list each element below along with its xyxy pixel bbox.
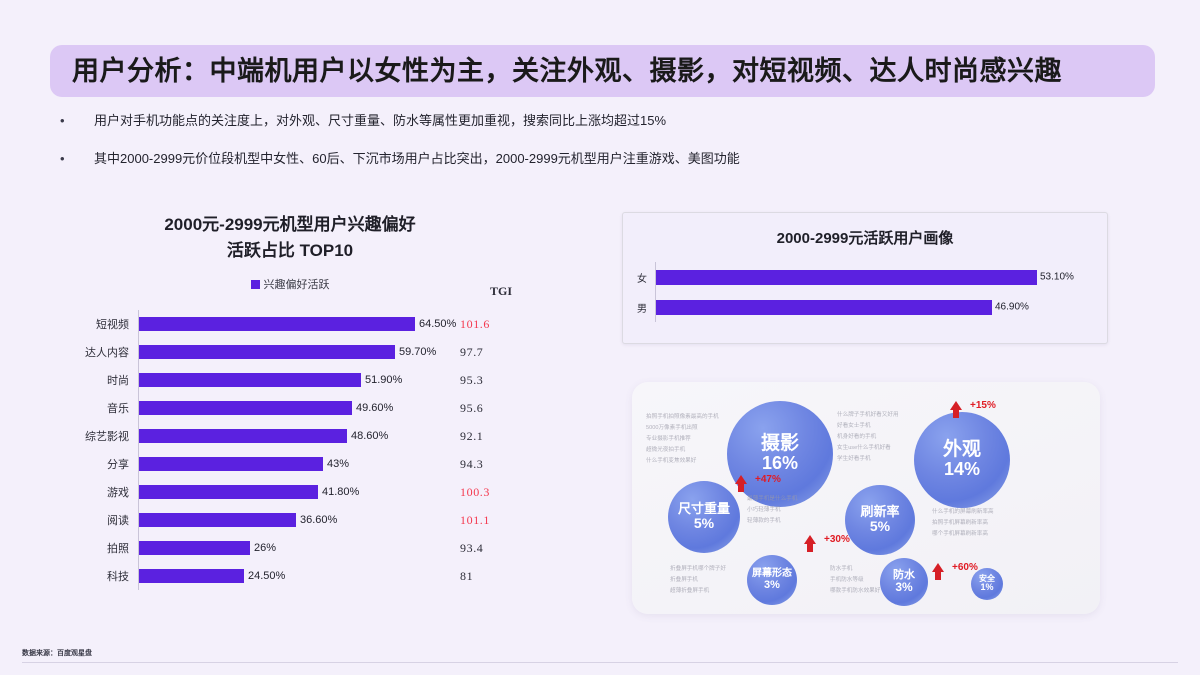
bubble-label: 外观 (943, 440, 981, 460)
keyword-label: 轻薄款的手机 (747, 516, 781, 527)
bubble-刷新率[interactable]: 刷新率5% (845, 485, 915, 555)
arrow-up-icon (950, 401, 962, 410)
table-row: 时尚51.90%95.3 (60, 366, 580, 394)
keyword-label: 女生use什么手机好看 (837, 443, 891, 454)
keyword-label: 拍照手机拍照像素最高的手机 (646, 412, 719, 423)
bubble-percent: 5% (694, 516, 714, 531)
bubble-percent: 1% (980, 583, 993, 593)
bar-value-label: 36.60% (300, 514, 337, 526)
keyword-label: 超微光夜拍手机 (646, 445, 685, 456)
bar-category-label: 男 (623, 300, 655, 315)
table-row: 男46.90% (623, 292, 1107, 322)
bar-track: 51.90% (138, 366, 438, 394)
bar-track: 49.60% (138, 394, 438, 422)
tgi-value: 97.7 (438, 345, 508, 360)
chart-title-line2: 活跃占比 TOP10 (90, 238, 490, 264)
bar-track: 43% (138, 450, 438, 478)
keyword-label: 超薄折叠屏手机 (670, 586, 709, 597)
table-row: 女53.10% (623, 262, 1107, 292)
bullet-list: • 用户对手机功能点的关注度上，对外观、尺寸重量、防水等属性更加重视，搜索同比上… (60, 112, 920, 188)
bar-fill (139, 457, 323, 471)
growth-indicator: +47% (735, 474, 781, 485)
legend-label: 兴趣偏好活跃 (264, 276, 330, 292)
tgi-value: 92.1 (438, 429, 508, 444)
bar-track: 26% (138, 534, 438, 562)
bar-value-label: 26% (254, 542, 276, 554)
keyword-label: 什么手机的屏幕刷新率高 (932, 507, 994, 518)
keyword-label: 学生好看手机 (837, 454, 871, 465)
bar-value-label: 41.80% (322, 486, 359, 498)
bar-value-label: 46.90% (995, 302, 1029, 313)
bar-fill (139, 485, 318, 499)
bubble-label: 屏幕形态 (752, 569, 792, 580)
growth-indicator: +60% (932, 562, 978, 573)
chart-plot-area: 短视频64.50%101.6达人内容59.70%97.7时尚51.90%95.3… (60, 310, 580, 590)
tgi-value: 101.1 (438, 513, 508, 528)
keyword-label: 哪款手机防水效果好 (830, 586, 880, 597)
legend-swatch-icon (251, 280, 260, 289)
keyword-label: 最薄手机是什么手机 (747, 494, 797, 505)
bar-fill (139, 429, 347, 443)
bar-track: 36.60% (138, 506, 438, 534)
table-row: 拍照26%93.4 (60, 534, 580, 562)
bar-value-label: 48.60% (351, 430, 388, 442)
bullet-marker-icon: • (60, 112, 72, 130)
chart-plot-area: 女53.10%男46.90% (623, 262, 1107, 322)
keyword-label: 防水手机 (830, 564, 852, 575)
growth-value: +30% (824, 534, 850, 545)
bar-category-label: 分享 (60, 456, 138, 472)
bubble-防水[interactable]: 防水3% (880, 558, 928, 606)
page-title: 用户分析：中端机用户以女性为主，关注外观、摄影，对短视频、达人时尚感兴趣 (72, 50, 1152, 92)
bar-category-label: 综艺影视 (60, 428, 138, 444)
bar-fill (139, 401, 352, 415)
list-item: • 其中2000-2999元价位段机型中女性、60后、下沉市场用户占比突出，20… (60, 150, 920, 168)
bar-fill (656, 270, 1037, 285)
growth-indicator: +30% (804, 534, 850, 545)
table-row: 游戏41.80%100.3 (60, 478, 580, 506)
bubble-尺寸重量[interactable]: 尺寸重量5% (668, 481, 740, 553)
keyword-label: 折叠屏手机哪个牌子好 (670, 564, 726, 575)
list-item: • 用户对手机功能点的关注度上，对外观、尺寸重量、防水等属性更加重视，搜索同比上… (60, 112, 920, 130)
arrow-up-icon (932, 563, 944, 572)
keyword-label: 拍照手机屏幕刷新率高 (932, 518, 988, 529)
bar-value-label: 64.50% (419, 318, 456, 330)
keyword-label: 专业摄影手机推荐 (646, 434, 691, 445)
feature-attention-bubble-chart: 摄影16%外观14%尺寸重量5%刷新率5%屏幕形态3%防水3%安全1%+15%+… (632, 382, 1100, 614)
bar-track: 41.80% (138, 478, 438, 506)
chart-title: 2000-2999元活跃用户画像 (623, 227, 1107, 248)
table-row: 短视频64.50%101.6 (60, 310, 580, 338)
bar-fill (139, 569, 244, 583)
bar-category-label: 阅读 (60, 512, 138, 528)
interest-bar-chart: 2000元-2999元机型用户兴趣偏好 活跃占比 TOP10 兴趣偏好活跃 TG… (60, 212, 580, 612)
bullet-text: 用户对手机功能点的关注度上，对外观、尺寸重量、防水等属性更加重视，搜索同比上涨均… (94, 112, 666, 130)
keyword-label: 什么手机变焦效果好 (646, 456, 696, 467)
bar-track: 64.50% (138, 310, 438, 338)
bubble-label: 尺寸重量 (678, 502, 730, 516)
tgi-value: 100.3 (438, 485, 508, 500)
bar-value-label: 43% (327, 458, 349, 470)
keyword-label: 机身好看的手机 (837, 432, 876, 443)
arrow-up-icon (804, 535, 816, 544)
slide-root: 用户分析：中端机用户以女性为主，关注外观、摄影，对短视频、达人时尚感兴趣 • 用… (0, 0, 1200, 675)
bubble-外观[interactable]: 外观14% (914, 412, 1010, 508)
growth-value: +60% (952, 562, 978, 573)
bubble-percent: 3% (764, 579, 780, 591)
bar-category-label: 游戏 (60, 484, 138, 500)
keyword-label: 手机防水等级 (830, 575, 864, 586)
keyword-label: 折叠屏手机 (670, 575, 698, 586)
bar-value-label: 53.10% (1040, 272, 1074, 283)
bar-fill (139, 373, 361, 387)
bar-value-label: 49.60% (356, 402, 393, 414)
bubble-percent: 16% (762, 454, 798, 474)
bubble-label: 刷新率 (860, 505, 899, 519)
bar-category-label: 短视频 (60, 316, 138, 332)
tgi-value: 94.3 (438, 457, 508, 472)
tgi-value: 95.6 (438, 401, 508, 416)
bubble-percent: 3% (895, 581, 912, 594)
bar-value-label: 24.50% (248, 570, 285, 582)
keyword-label: 5000万像素手机出照 (646, 423, 698, 434)
table-row: 阅读36.60%101.1 (60, 506, 580, 534)
bar-category-label: 科技 (60, 568, 138, 584)
bullet-text: 其中2000-2999元价位段机型中女性、60后、下沉市场用户占比突出，2000… (94, 150, 740, 168)
bubble-屏幕形态[interactable]: 屏幕形态3% (747, 555, 797, 605)
bar-track: 53.10% (655, 262, 1085, 292)
bar-fill (139, 541, 250, 555)
bar-category-label: 达人内容 (60, 344, 138, 360)
keyword-label: 哪个手机屏幕刷新率高 (932, 529, 988, 540)
growth-indicator: +15% (950, 400, 996, 411)
bar-value-label: 59.70% (399, 346, 436, 358)
keyword-label: 什么牌子手机好看又好用 (837, 410, 899, 421)
bar-track: 48.60% (138, 422, 438, 450)
keyword-label: 小巧轻薄手机 (747, 505, 781, 516)
chart-legend: 兴趣偏好活跃 (90, 276, 490, 292)
tgi-column-header: TGI (490, 284, 512, 299)
table-row: 科技24.50%81 (60, 562, 580, 590)
bar-fill (139, 345, 395, 359)
bar-value-label: 51.90% (365, 374, 402, 386)
bubble-percent: 14% (944, 460, 980, 480)
growth-value: +15% (970, 400, 996, 411)
keyword-label: 好看女士手机 (837, 421, 871, 432)
tgi-value: 81 (438, 569, 508, 584)
bar-track: 59.70% (138, 338, 438, 366)
arrow-up-icon (735, 475, 747, 484)
bubble-percent: 5% (870, 519, 890, 534)
table-row: 分享43%94.3 (60, 450, 580, 478)
table-row: 音乐49.60%95.6 (60, 394, 580, 422)
bar-fill (139, 317, 415, 331)
table-row: 达人内容59.70%97.7 (60, 338, 580, 366)
bar-track: 46.90% (655, 292, 1085, 322)
tgi-value: 93.4 (438, 541, 508, 556)
tgi-value: 95.3 (438, 373, 508, 388)
gender-profile-card: 2000-2999元活跃用户画像 女53.10%男46.90% (622, 212, 1108, 344)
bar-category-label: 音乐 (60, 400, 138, 416)
bar-category-label: 女 (623, 270, 655, 285)
bar-category-label: 时尚 (60, 372, 138, 388)
bar-fill (139, 513, 296, 527)
data-source-note: 数据来源：百度观星盘 (22, 648, 92, 658)
table-row: 综艺影视48.60%92.1 (60, 422, 580, 450)
bar-category-label: 拍照 (60, 540, 138, 556)
chart-title: 2000元-2999元机型用户兴趣偏好 活跃占比 TOP10 (90, 212, 490, 264)
growth-value: +47% (755, 474, 781, 485)
footer-divider (22, 662, 1178, 663)
bubble-label: 摄影 (761, 434, 799, 454)
bar-fill (656, 300, 992, 315)
chart-title-line1: 2000元-2999元机型用户兴趣偏好 (90, 212, 490, 238)
bullet-marker-icon: • (60, 150, 72, 168)
bar-track: 24.50% (138, 562, 438, 590)
